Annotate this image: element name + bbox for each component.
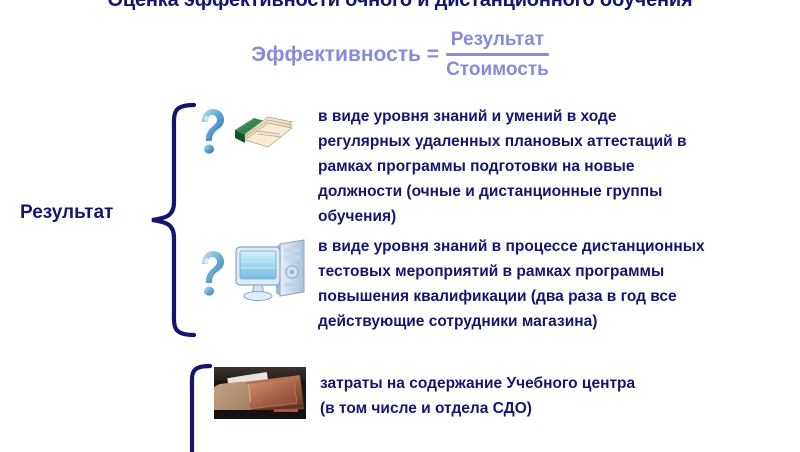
desktop-computer-icon (232, 234, 310, 317)
cost-item-row-1: затраты на содержание Учебного центра (в… (214, 366, 790, 421)
cost-item-1-text: затраты на содержание Учебного центра (в… (320, 366, 790, 421)
page-title: Оценка эффективности очного и дистанцион… (0, 0, 800, 12)
result-item-row-2: в виде уровня знаний в процессе дистанци… (196, 230, 796, 334)
result-item-1-text: в виде уровня знаний и умений в ходе рег… (318, 104, 788, 229)
curly-brace-result-icon (142, 100, 202, 340)
hand-holding-money-photo (214, 367, 306, 419)
curly-brace-cost-icon (170, 362, 216, 452)
photo-red-accent (274, 409, 298, 412)
fraction-bar (446, 53, 549, 56)
formula-left-hand-side: Эффективность = (251, 44, 446, 65)
stack-of-papers-icon (232, 109, 294, 158)
formula-numerator: Результат (451, 28, 544, 51)
efficiency-formula: Эффективность = Результат Стоимость (0, 28, 800, 81)
result-item-row-1: в виде уровня знаний и умений в ходе рег… (196, 104, 788, 229)
result-item-2-text: в виде уровня знаний в процессе дистанци… (318, 230, 796, 334)
formula-fraction: Результат Стоимость (446, 28, 549, 81)
category-label-result: Результат (20, 202, 113, 224)
row-1-icon-group (196, 104, 314, 162)
question-mark-icon (196, 108, 226, 159)
row-3-icon-group (214, 366, 314, 420)
row-2-icon-group (196, 230, 314, 320)
question-mark-icon (196, 250, 226, 301)
formula-denominator: Стоимость (446, 58, 549, 81)
